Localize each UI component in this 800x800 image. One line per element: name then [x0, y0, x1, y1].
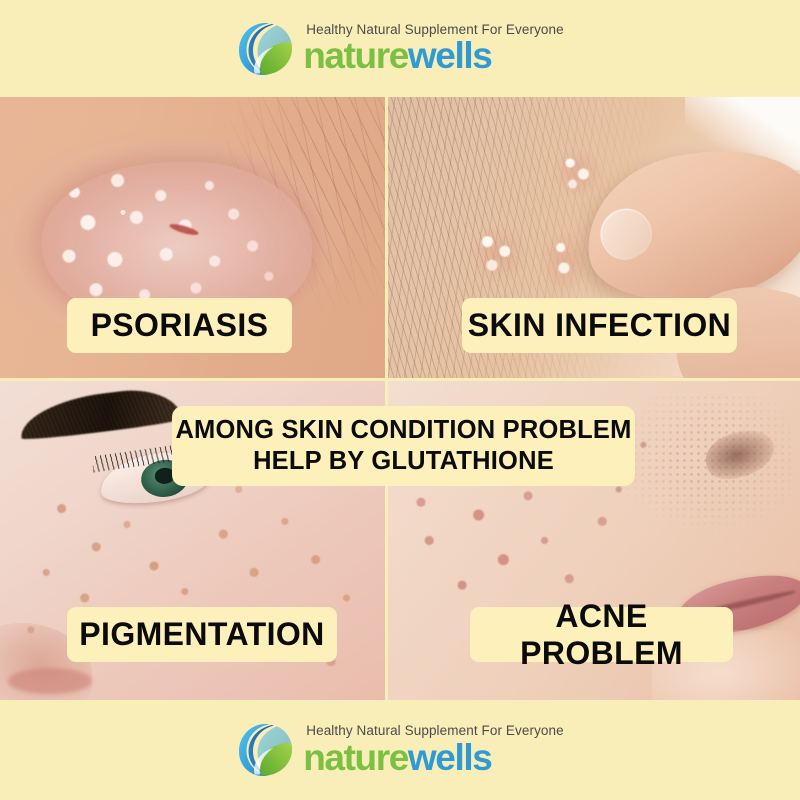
fingernail: [591, 199, 660, 268]
center-message-banner: AMONG SKIN CONDITION PROBLEM HELP BY GLU…: [172, 406, 635, 486]
wordmark-wells-bottom: wells: [408, 737, 492, 778]
logo-lockup-bottom[interactable]: Healthy Natural Supplement For Everyone …: [236, 721, 564, 779]
wordmark-nature-bottom: nature: [303, 737, 408, 778]
naturewells-leaf-logo-icon: [236, 721, 294, 779]
banner-line-2: HELP BY GLUTATHIONE: [253, 446, 554, 477]
wordmark-wells-top: wells: [408, 35, 492, 76]
header-brand-bar: Healthy Natural Supplement For Everyone …: [0, 0, 800, 97]
brand-wordmark-top: naturewells: [303, 37, 564, 74]
naturewells-leaf-logo-icon: [236, 20, 294, 78]
logo-text-block-top: Healthy Natural Supplement For Everyone …: [303, 23, 564, 75]
label-psoriasis: PSORIASIS: [67, 298, 292, 353]
banner-line-1: AMONG SKIN CONDITION PROBLEM: [175, 415, 631, 446]
brand-tagline-bottom: Healthy Natural Supplement For Everyone: [306, 724, 564, 738]
blister-cluster: [540, 232, 585, 294]
label-skin-infection: SKIN INFECTION: [462, 298, 737, 353]
label-pigmentation: PIGMENTATION: [67, 607, 337, 662]
blister-cluster: [470, 226, 528, 282]
footer-brand-bar: Healthy Natural Supplement For Everyone …: [0, 700, 800, 800]
label-acne-problem: ACNE PROBLEM: [470, 607, 733, 662]
logo-text-block-bottom: Healthy Natural Supplement For Everyone …: [303, 724, 564, 776]
brand-wordmark-bottom: naturewells: [303, 739, 564, 776]
blister-cluster: [553, 148, 602, 199]
wordmark-nature-top: nature: [303, 35, 408, 76]
brand-tagline-top: Healthy Natural Supplement For Everyone: [306, 23, 564, 37]
lip-edge: [8, 668, 93, 694]
poster-canvas: Healthy Natural Supplement For Everyone …: [0, 0, 800, 800]
logo-lockup-top[interactable]: Healthy Natural Supplement For Everyone …: [236, 20, 564, 78]
